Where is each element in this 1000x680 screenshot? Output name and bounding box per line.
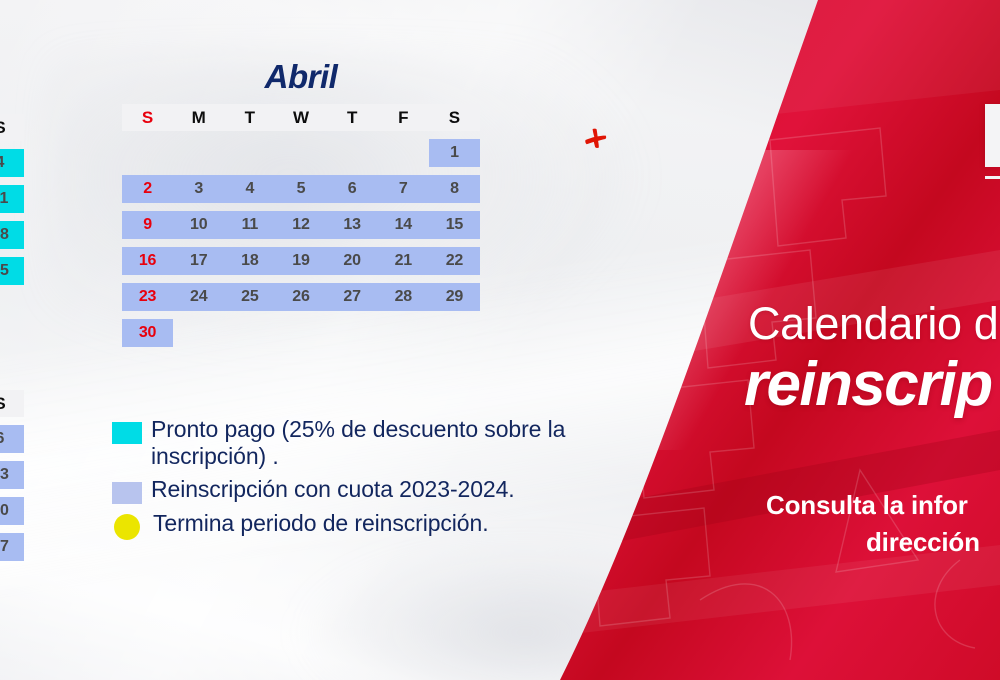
banner-title-line1: Calendario d	[748, 300, 998, 347]
logo-plaque-rule	[985, 176, 1000, 179]
poster-canvas: S 4111825 S 6132027 Abril SMTWTFS 123456…	[0, 0, 1000, 680]
logo-plaque	[985, 104, 1000, 167]
banner-subtitle-line1: Consulta la infor	[766, 492, 968, 519]
banner-title-line2: reinscrip	[744, 352, 992, 417]
banner-subtitle-line2: dirección	[866, 529, 980, 556]
